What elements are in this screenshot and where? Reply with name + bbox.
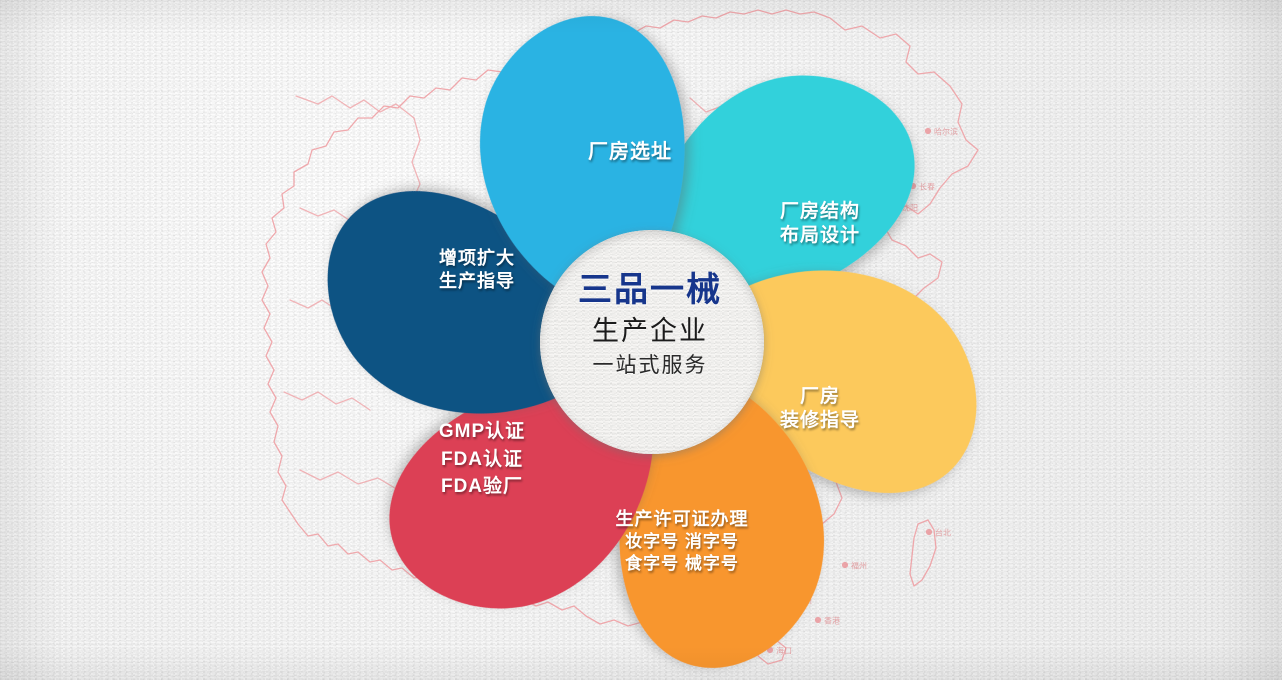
map-city-label: 海口 — [776, 646, 792, 656]
infographic-canvas: 哈尔滨长春沈阳北京郑州南京上海武汉福州台北广州香港成都重庆海口 — [0, 0, 1282, 680]
center-hub-paper-overlay — [540, 230, 764, 454]
